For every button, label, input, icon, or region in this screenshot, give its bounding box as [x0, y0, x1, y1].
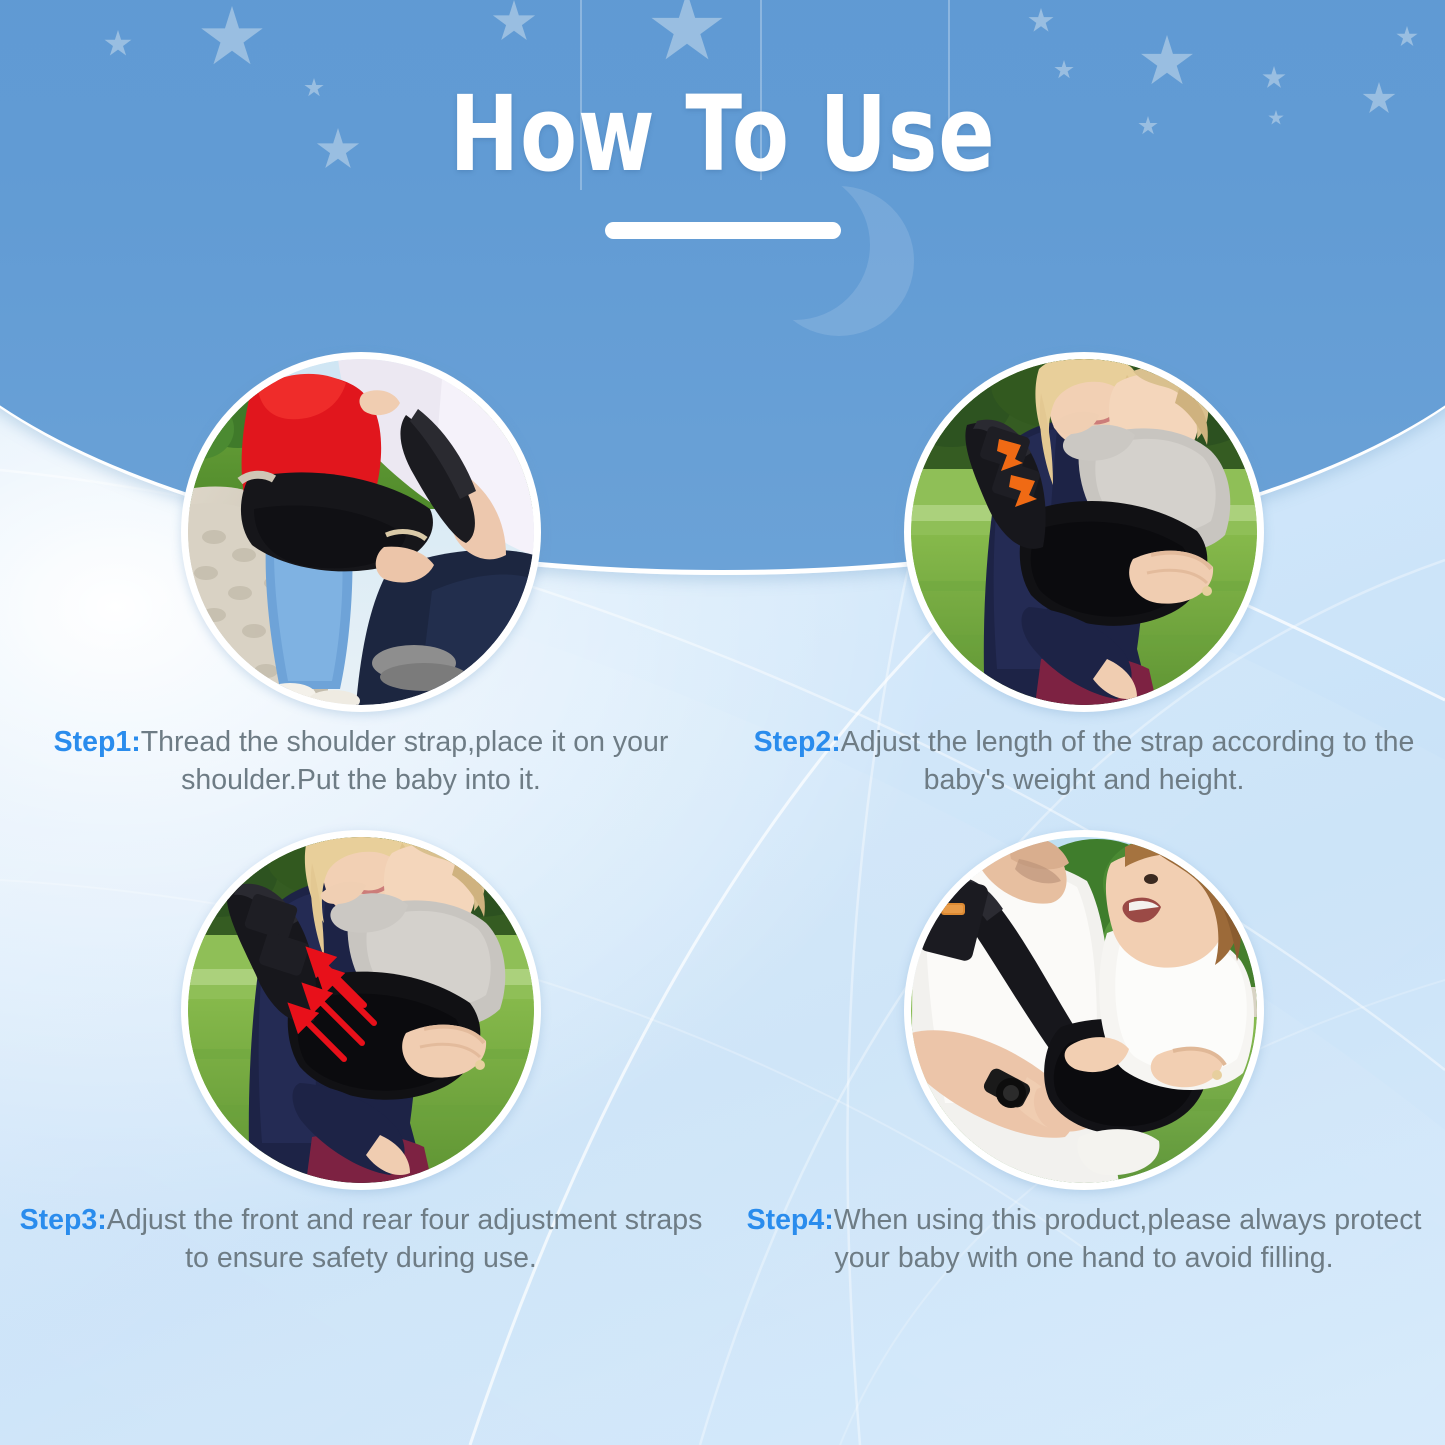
- photo-step1-thread-shoulder-strap: [188, 359, 534, 705]
- steps-grid: Step1:Thread the shoulder strap,place it…: [0, 352, 1445, 1445]
- step-caption-4: Step4:When using this product,please alw…: [723, 1202, 1445, 1278]
- star-icon: [1140, 35, 1194, 89]
- photo-step3-adjust-four-straps: [188, 837, 534, 1183]
- star-icon: [200, 6, 264, 70]
- step-text-1: Thread the shoulder strap,place it on yo…: [141, 726, 669, 796]
- star-icon: [650, 0, 724, 66]
- star-icon: [1054, 60, 1074, 80]
- title-underline: [605, 222, 841, 239]
- photo-ring-step1: [181, 352, 541, 712]
- step-label-2: Step2:: [754, 726, 841, 758]
- step-item-2: Step2:Adjust the length of the strap acc…: [723, 352, 1445, 800]
- step-caption-2: Step2:Adjust the length of the strap acc…: [723, 724, 1445, 800]
- photo-ring-step2: [904, 352, 1264, 712]
- step-text-4: When using this product,please always pr…: [834, 1204, 1422, 1274]
- star-icon: [104, 30, 132, 58]
- star-icon: [1028, 8, 1054, 34]
- step-caption-3: Step3:Adjust the front and rear four adj…: [0, 1202, 722, 1278]
- step-item-1: Step1:Thread the shoulder strap,place it…: [0, 352, 722, 800]
- step-text-2: Adjust the length of the strap according…: [841, 726, 1415, 796]
- photo-ring-step4: [904, 830, 1264, 1190]
- photo-ring-step3: [181, 830, 541, 1190]
- photo-step4-support-with-one-hand: [911, 837, 1257, 1183]
- step-label-3: Step3:: [20, 1204, 107, 1236]
- step-item-4: Step4:When using this product,please alw…: [723, 830, 1445, 1278]
- step-label-4: Step4:: [747, 1204, 834, 1236]
- step-label-1: Step1:: [54, 726, 141, 758]
- step-item-3: Step3:Adjust the front and rear four adj…: [0, 830, 722, 1278]
- step-caption-1: Step1:Thread the shoulder strap,place it…: [0, 724, 722, 800]
- page-title: How To Use: [49, 82, 1397, 186]
- star-icon: [492, 0, 536, 44]
- step-text-3: Adjust the front and rear four adjustmen…: [107, 1204, 703, 1274]
- star-icon: [1396, 26, 1418, 48]
- how-to-use-infographic: How To Use: [0, 0, 1445, 1445]
- photo-step2-adjust-strap-length: [911, 359, 1257, 705]
